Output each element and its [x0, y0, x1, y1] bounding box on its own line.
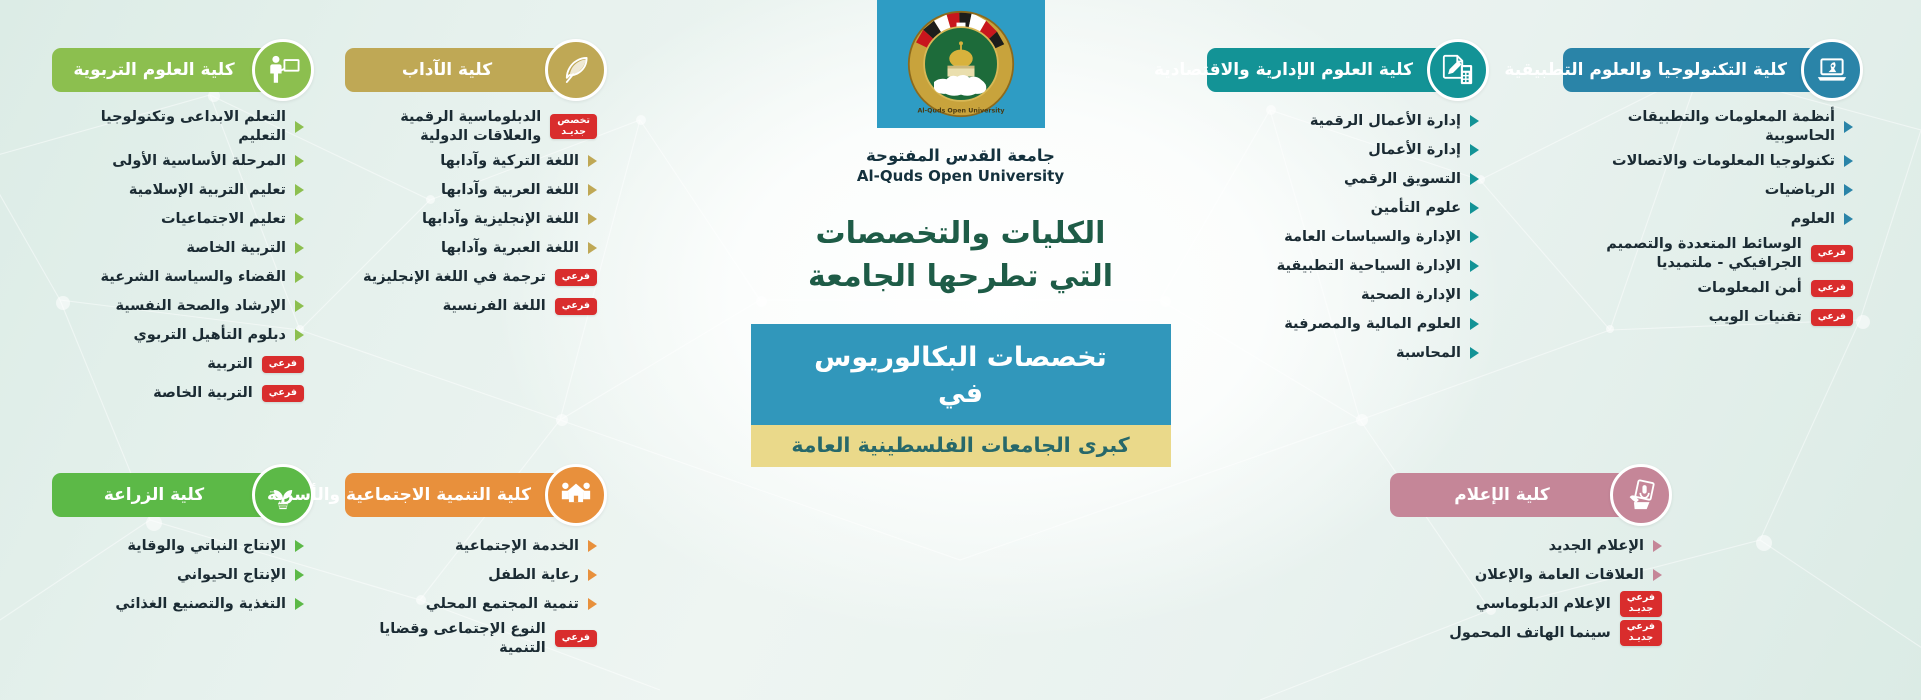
program-name: سينما الهاتف المحمول	[1449, 624, 1610, 643]
faculty-header-administrative-economic-sciences[interactable]: كلية العلوم الإدارية والاقتصادية	[1207, 48, 1479, 92]
banner-highlight: كبرى الجامعات الفلسطينية العامة	[751, 425, 1171, 467]
badge-minor: فرعي	[262, 356, 304, 373]
program-item[interactable]: علوم التأمين	[1207, 195, 1479, 221]
program-name: أنظمة المعلومات والتطبيقات الحاسوبية	[1563, 108, 1835, 145]
faculty-title: كلية الآداب	[363, 60, 531, 80]
faculty-header-arts[interactable]: كلية الآداب	[345, 48, 597, 92]
program-item[interactable]: الإدارة والسياسات العامة	[1207, 224, 1479, 250]
banner-line-1: تخصصات البكالوريوس	[761, 340, 1161, 376]
bullet-arrow-icon	[588, 242, 597, 254]
headline-line-2: التي تطرحها الجامعة	[751, 256, 1171, 299]
program-item[interactable]: الإنتاج الحيواني	[52, 562, 304, 588]
bullet-arrow-icon	[295, 121, 304, 133]
bullet-arrow-icon	[295, 184, 304, 196]
program-item[interactable]: التسويق الرقمي	[1207, 166, 1479, 192]
program-item[interactable]: العلوم	[1563, 206, 1853, 232]
banner-top: تخصصات البكالوريوس في	[751, 324, 1171, 425]
faculty-header-media[interactable]: كلية الإعلام	[1390, 473, 1662, 517]
bullet-arrow-icon	[1470, 260, 1479, 272]
program-item[interactable]: اللغة الإنجليزية وآدابها	[345, 206, 597, 232]
al-quds-open-university-emblem-icon: Al-Quds Open University	[907, 10, 1015, 118]
program-item[interactable]: إدارة الأعمال	[1207, 137, 1479, 163]
program-item[interactable]: اللغة العبرية وآدابها	[345, 235, 597, 261]
badge-new-minor: فرعي جديـد	[1620, 591, 1662, 617]
program-item[interactable]: إدارة الأعمال الرقمية	[1207, 108, 1479, 134]
program-item[interactable]: التربية الخاصة	[52, 235, 304, 261]
bullet-arrow-icon	[588, 569, 597, 581]
bullet-arrow-icon	[1470, 231, 1479, 243]
program-name: تعليم الاجتماعيات	[161, 210, 286, 229]
infographic-poster: Al-Quds Open University جامعة القدس المف…	[0, 0, 1921, 700]
program-name: العلوم	[1791, 210, 1835, 229]
banner-line-2: في	[761, 376, 1161, 412]
program-item[interactable]: التعلم الابداعى وتكنولوجيا التعليم	[52, 108, 304, 145]
bullet-arrow-icon	[1470, 347, 1479, 359]
svg-text:Al-Quds Open University: Al-Quds Open University	[917, 108, 1004, 115]
bullet-arrow-icon	[295, 329, 304, 341]
bullet-arrow-icon	[588, 540, 597, 552]
program-item[interactable]: العلاقات العامة والإعلان	[1390, 562, 1662, 588]
badge-minor: فرعي	[1811, 280, 1853, 297]
program-name: تكنولوجيا المعلومات والاتصالات	[1612, 152, 1835, 171]
program-name: الإدارة الصحية	[1361, 286, 1461, 305]
bullet-arrow-icon	[1470, 202, 1479, 214]
university-name-english: Al-Quds Open University	[751, 167, 1171, 185]
program-item[interactable]: فرعيتقنيات الويب	[1563, 304, 1853, 330]
badge-minor: فرعي	[555, 269, 597, 286]
program-name: التعلم الابداعى وتكنولوجيا التعليم	[52, 108, 286, 145]
bullet-arrow-icon	[588, 155, 597, 167]
program-name: أمن المعلومات	[1697, 279, 1801, 298]
bullet-arrow-icon	[1844, 155, 1853, 167]
program-name: الإدارة والسياسات العامة	[1284, 228, 1461, 247]
headline-line-1: الكليات والتخصصات	[751, 213, 1171, 256]
faculty-header-technology-applied-sciences[interactable]: كلية التكنولوجيا والعلوم التطبيقية	[1563, 48, 1853, 92]
program-name: الإرشاد والصحة النفسية	[115, 297, 286, 316]
bullet-arrow-icon	[1470, 318, 1479, 330]
center-block: Al-Quds Open University جامعة القدس المف…	[751, 0, 1171, 467]
bullet-arrow-icon	[588, 213, 597, 225]
program-name: التربية	[207, 355, 253, 374]
program-item[interactable]: فرعياللغة الفرنسية	[345, 293, 597, 319]
program-list-educational-sciences: التعلم الابداعى وتكنولوجيا التعليمالمرحل…	[52, 108, 304, 406]
program-item[interactable]: الإعلام الجديد	[1390, 533, 1662, 559]
program-name: اللغة العربية وآدابها	[441, 181, 579, 200]
program-item[interactable]: التغذية والتصنيع الغذائي	[52, 591, 304, 617]
program-item[interactable]: فرعيترجمة في اللغة الإنجليزية	[345, 264, 597, 290]
program-name: الرياضيات	[1765, 181, 1835, 200]
program-list-technology-applied-sciences: أنظمة المعلومات والتطبيقات الحاسوبيةتكنو…	[1563, 108, 1853, 330]
bullet-arrow-icon	[1470, 173, 1479, 185]
program-item[interactable]: فرعيالوسائط المتعددة والتصميم الجرافيكي …	[1563, 235, 1853, 272]
program-name: التغذية والتصنيع الغذائي	[115, 595, 286, 614]
bullet-arrow-icon	[1470, 115, 1479, 127]
program-item[interactable]: فرعيالتربية	[52, 351, 304, 377]
university-name-arabic: جامعة القدس المفتوحة	[751, 146, 1171, 165]
program-name: الإنتاج الحيواني	[177, 566, 286, 585]
program-item[interactable]: تكنولوجيا المعلومات والاتصالات	[1563, 148, 1853, 174]
program-name: القضاء والسياسة الشرعية	[101, 268, 287, 287]
bullet-arrow-icon	[295, 213, 304, 225]
program-item[interactable]: تنمية المجتمع المحلي	[345, 591, 597, 617]
program-item[interactable]: دبلوم التأهيل التربوي	[52, 322, 304, 348]
document-calculator-icon	[1427, 39, 1489, 101]
program-name: تعليم التربية الإسلامية	[129, 181, 286, 200]
faculty-title: كلية العلوم التربوية	[70, 60, 238, 80]
bullet-arrow-icon	[1470, 144, 1479, 156]
bullet-arrow-icon	[295, 569, 304, 581]
badge-minor: فرعي	[1811, 245, 1853, 262]
program-name: التسويق الرقمي	[1344, 170, 1461, 189]
program-name: الإعلام الدبلوماسي	[1476, 595, 1611, 614]
badge-minor: فرعي	[555, 630, 597, 647]
faculty-title: كلية العلوم الإدارية والاقتصادية	[1225, 60, 1413, 80]
program-name: المحاسبة	[1396, 344, 1461, 363]
program-item[interactable]: فرعيأمن المعلومات	[1563, 275, 1853, 301]
program-item[interactable]: الإدارة السياحية التطبيقية	[1207, 253, 1479, 279]
program-item[interactable]: تعليم التربية الإسلامية	[52, 177, 304, 203]
program-list-administrative-economic-sciences: إدارة الأعمال الرقميةإدارة الأعمالالتسوي…	[1207, 108, 1479, 366]
bullet-arrow-icon	[1653, 540, 1662, 552]
program-name: دبلوم التأهيل التربوي	[134, 326, 287, 345]
teacher-board-icon	[252, 39, 314, 101]
page-headline: الكليات والتخصصات التي تطرحها الجامعة	[751, 213, 1171, 298]
program-name: العلوم المالية والمصرفية	[1284, 315, 1461, 334]
program-item[interactable]: تعليم الاجتماعيات	[52, 206, 304, 232]
program-item[interactable]: أنظمة المعلومات والتطبيقات الحاسوبية	[1563, 108, 1853, 145]
program-name: اللغة العبرية وآدابها	[441, 239, 579, 258]
program-item[interactable]: فرعيالتربية الخاصة	[52, 380, 304, 406]
program-name: اللغة الإنجليزية وآدابها	[422, 210, 579, 229]
program-name: تقنيات الويب	[1709, 308, 1802, 327]
program-name: تنمية المجتمع المحلي	[426, 595, 579, 614]
bullet-arrow-icon	[295, 300, 304, 312]
feather-quill-icon	[545, 39, 607, 101]
program-item[interactable]: رعاية الطفل	[345, 562, 597, 588]
program-item[interactable]: الإنتاج النباتي والوقاية	[52, 533, 304, 559]
program-list-social-family-development: الخدمة الإجتماعيةرعاية الطفلتنمية المجتم…	[345, 533, 597, 657]
program-item[interactable]: القضاء والسياسة الشرعية	[52, 264, 304, 290]
bullet-arrow-icon	[1844, 213, 1853, 225]
bullet-arrow-icon	[1470, 289, 1479, 301]
program-item[interactable]: المرحلة الأساسية الأولى	[52, 148, 304, 174]
faculty-title: كلية الإعلام	[1408, 485, 1596, 505]
program-item[interactable]: اللغة التركية وآدابها	[345, 148, 597, 174]
faculty-header-social-family-development[interactable]: كلية التنمية الاجتماعية والأسرية	[345, 473, 597, 517]
microphone-hand-icon	[1610, 464, 1672, 526]
program-item[interactable]: فرعي جديـدالإعلام الدبلوماسي	[1390, 591, 1662, 617]
bullet-arrow-icon	[295, 598, 304, 610]
program-item[interactable]: العلوم المالية والمصرفية	[1207, 311, 1479, 337]
program-name: النوع الإجتماعى وقضايا التنمية	[345, 620, 546, 657]
program-list-media: الإعلام الجديدالعلاقات العامة والإعلانفر…	[1390, 533, 1662, 646]
badge-new-program: تخصص جديـد	[550, 114, 597, 140]
faculty-header-educational-sciences[interactable]: كلية العلوم التربوية	[52, 48, 304, 92]
bullet-arrow-icon	[1653, 569, 1662, 581]
faculty-title: كلية الزراعة	[70, 485, 238, 505]
program-name: الوسائط المتعددة والتصميم الجرافيكي - مل…	[1606, 235, 1802, 272]
program-name: ترجمة في اللغة الإنجليزية	[363, 268, 546, 287]
program-name: التربية الخاصة	[186, 239, 286, 258]
bullet-arrow-icon	[295, 242, 304, 254]
badge-minor: فرعي	[555, 298, 597, 315]
program-name: العلاقات العامة والإعلان	[1475, 566, 1644, 585]
program-name: علوم التأمين	[1371, 199, 1461, 218]
bullet-arrow-icon	[1844, 121, 1853, 133]
family-house-icon	[545, 464, 607, 526]
program-name: المرحلة الأساسية الأولى	[112, 152, 286, 171]
program-item[interactable]: المحاسبة	[1207, 340, 1479, 366]
program-item[interactable]: الرياضيات	[1563, 177, 1853, 203]
program-name: إدارة الأعمال	[1368, 141, 1461, 160]
badge-minor: فرعي	[1811, 309, 1853, 326]
faculty-title: كلية التنمية الاجتماعية والأسرية	[363, 485, 531, 505]
program-item[interactable]: الإدارة الصحية	[1207, 282, 1479, 308]
bullet-arrow-icon	[295, 155, 304, 167]
program-item[interactable]: الإرشاد والصحة النفسية	[52, 293, 304, 319]
program-name: الإدارة السياحية التطبيقية	[1277, 257, 1461, 276]
bullet-arrow-icon	[588, 598, 597, 610]
program-name: اللغة التركية وآدابها	[440, 152, 579, 171]
bullet-arrow-icon	[295, 271, 304, 283]
bullet-arrow-icon	[295, 540, 304, 552]
program-list-arts: تخصص جديـدالدبلوماسية الرقمية والعلاقات …	[345, 108, 597, 319]
badge-minor: فرعي	[262, 385, 304, 402]
program-name: إدارة الأعمال الرقمية	[1310, 112, 1461, 131]
bachelor-banner: تخصصات البكالوريوس في كبرى الجامعات الفل…	[751, 324, 1171, 467]
program-item[interactable]: فرعيالنوع الإجتماعى وقضايا التنمية	[345, 620, 597, 657]
laptop-science-icon	[1801, 39, 1863, 101]
program-item[interactable]: فرعي جديـدسينما الهاتف المحمول	[1390, 620, 1662, 646]
badge-new-minor: فرعي جديـد	[1620, 620, 1662, 646]
program-name: الإعلام الجديد	[1549, 537, 1644, 556]
program-item[interactable]: تخصص جديـدالدبلوماسية الرقمية والعلاقات …	[345, 108, 597, 145]
bullet-arrow-icon	[1844, 184, 1853, 196]
program-item[interactable]: الخدمة الإجتماعية	[345, 533, 597, 559]
faculty-title: كلية التكنولوجيا والعلوم التطبيقية	[1581, 60, 1787, 80]
program-name: اللغة الفرنسية	[443, 297, 546, 316]
program-name: الدبلوماسية الرقمية والعلاقات الدولية	[345, 108, 541, 145]
bullet-arrow-icon	[588, 184, 597, 196]
program-name: التربية الخاصة	[153, 384, 253, 403]
program-name: الإنتاج النباتي والوقاية	[127, 537, 286, 556]
logo-plate: Al-Quds Open University	[877, 0, 1045, 128]
program-item[interactable]: اللغة العربية وآدابها	[345, 177, 597, 203]
program-list-agriculture: الإنتاج النباتي والوقايةالإنتاج الحيواني…	[52, 533, 304, 617]
program-name: الخدمة الإجتماعية	[455, 537, 579, 556]
program-name: رعاية الطفل	[488, 566, 579, 585]
